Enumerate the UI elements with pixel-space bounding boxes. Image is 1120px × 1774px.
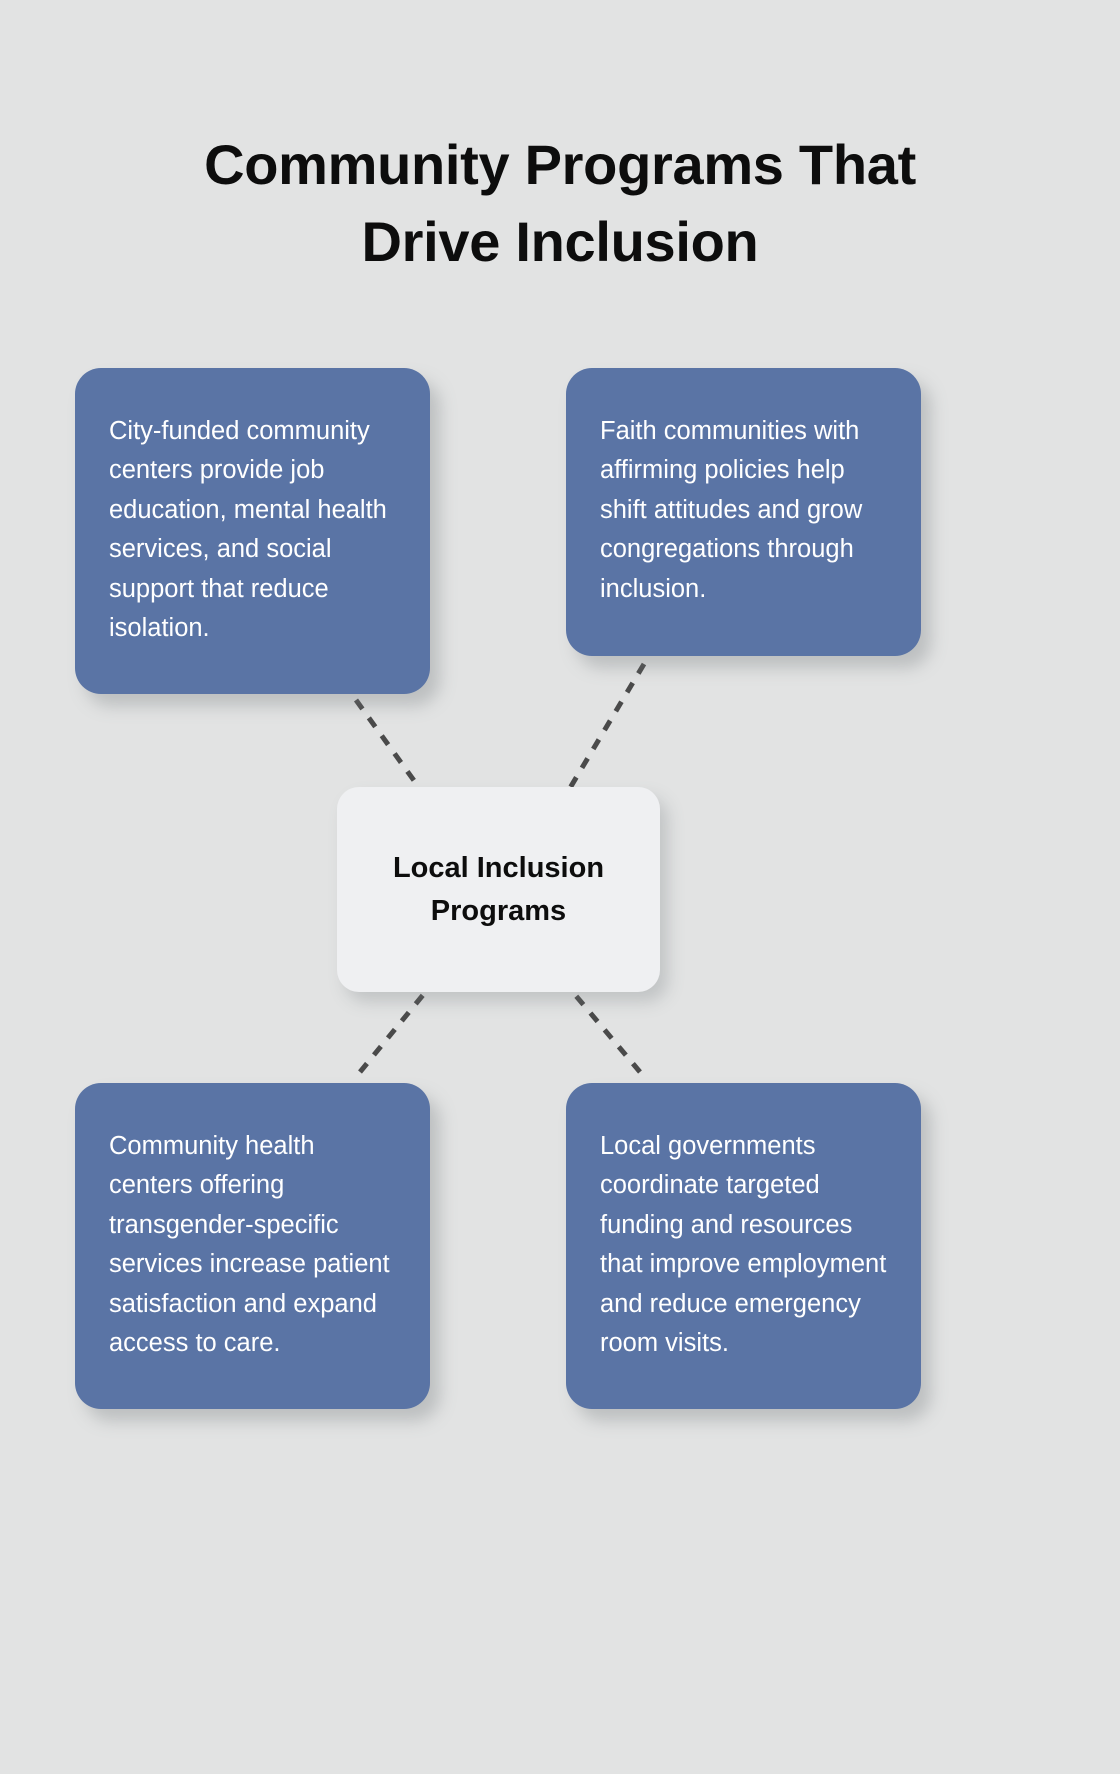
page-title-line-2: Drive Inclusion [60,203,1060,280]
page-title: Community Programs That Drive Inclusion [60,126,1060,281]
connector-bottom-right-to-center [566,984,640,1072]
info-card-bottom-right-text: Local governments coordinate targeted fu… [600,1132,886,1357]
center-node-label-line-1: Local Inclusion [393,852,604,884]
center-node-label-line-2: Programs [431,895,566,927]
infographic-canvas: Community Programs That Drive Inclusion … [0,0,1120,1774]
info-card-bottom-right[interactable]: Local governments coordinate targeted fu… [566,1083,921,1409]
connector-top-right-to-center [564,664,644,798]
info-card-top-left-text: City-funded community centers provide jo… [109,417,387,642]
info-card-top-left[interactable]: City-funded community centers provide jo… [75,368,430,694]
info-card-top-right-text: Faith communities with affirming policie… [600,417,862,603]
page-title-line-1: Community Programs That [60,126,1060,203]
connector-top-left-to-center [356,700,428,800]
info-card-top-right[interactable]: Faith communities with affirming policie… [566,368,921,656]
info-card-bottom-left[interactable]: Community health centers offering transg… [75,1083,430,1409]
info-card-bottom-left-text: Community health centers offering transg… [109,1132,390,1357]
center-node-label: Local Inclusion Programs [371,847,626,932]
connector-bottom-left-to-center [360,984,432,1072]
center-node[interactable]: Local Inclusion Programs [337,787,660,992]
